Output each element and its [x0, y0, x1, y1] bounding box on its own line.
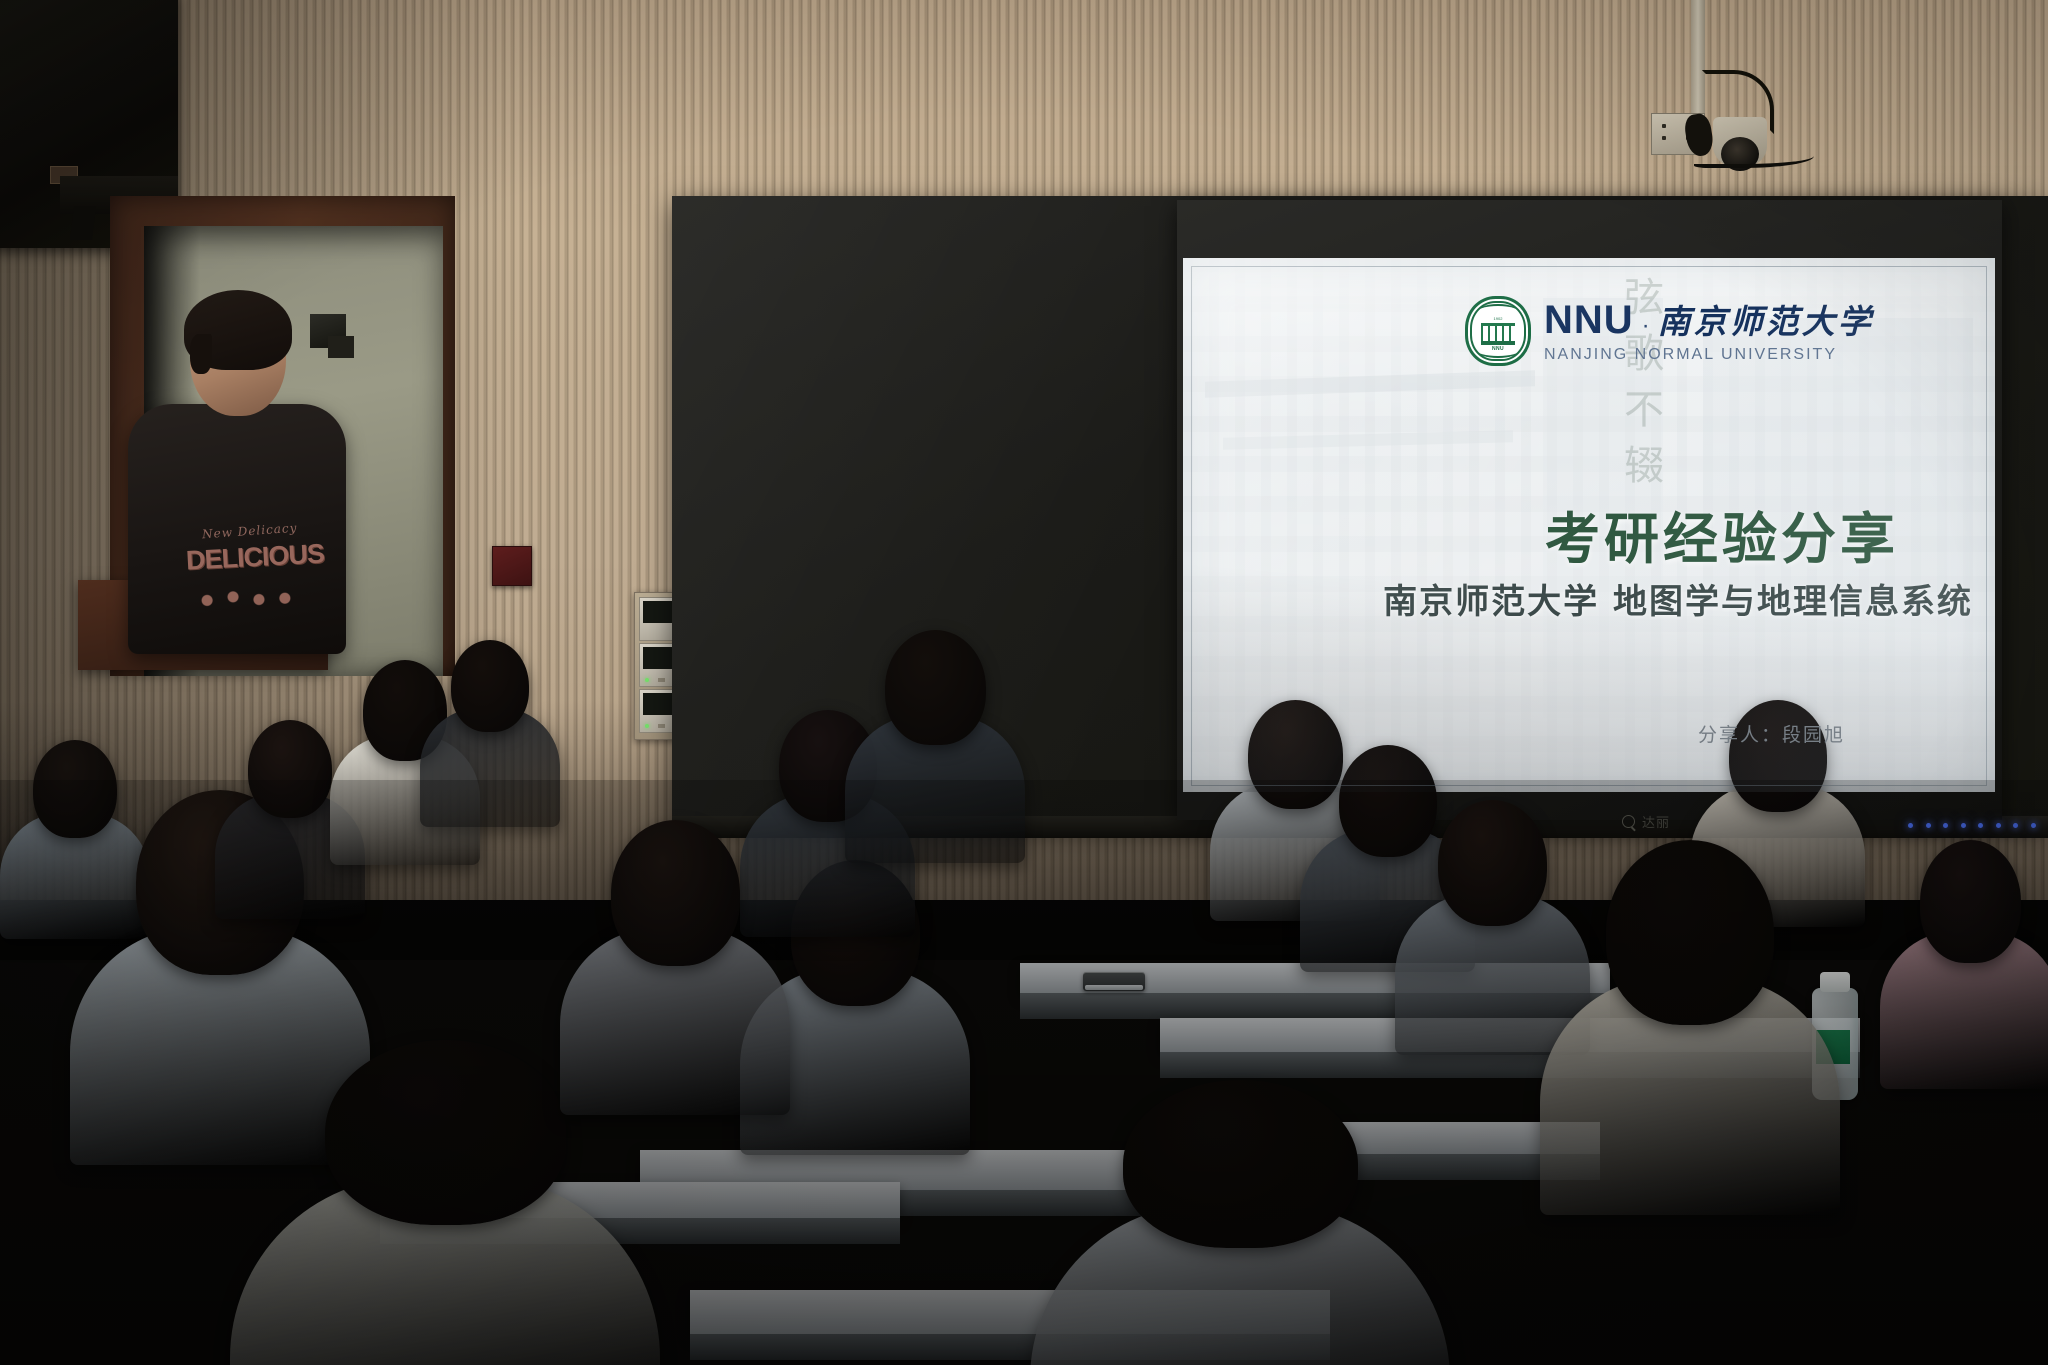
- audience-member: [1030, 1080, 1450, 1365]
- audience-member: [1540, 840, 1840, 1170]
- slide-presenter-line: 分享人：段园旭: [1698, 720, 1845, 747]
- slide-content: 1902 NNU NNU · 南京师范大学 NANJING NORMAL UNI…: [1183, 258, 1995, 792]
- status-led-icon: [645, 678, 649, 682]
- control-button[interactable]: [658, 678, 665, 682]
- audience-head: [1123, 1080, 1358, 1248]
- seal-year: 1902: [1468, 316, 1528, 321]
- display-led-indicators: [1908, 822, 2036, 828]
- nnu-seal-icon: 1902 NNU: [1465, 296, 1531, 366]
- audience-member: [560, 820, 790, 1080]
- audience-head: [1438, 800, 1547, 926]
- audience-head: [885, 630, 986, 745]
- logo-text-block: NNU · 南京师范大学 NANJING NORMAL UNIVERSITY: [1544, 300, 1874, 363]
- speaker-arm: [70, 206, 96, 240]
- smartphone-on-desk[interactable]: [1083, 972, 1145, 991]
- university-logo-lockup: 1902 NNU NNU · 南京师范大学 NANJING NORMAL UNI…: [1465, 296, 1874, 366]
- audience-member: [845, 630, 1025, 835]
- audience-head: [1920, 840, 2021, 963]
- audience-head: [325, 1040, 566, 1225]
- presenter-torso: New Delicacy DELICIOUS: [128, 404, 346, 654]
- tshirt-script-text: New Delicacy: [202, 521, 298, 542]
- logo-separator: ·: [1642, 314, 1650, 338]
- tshirt-graphic: New Delicacy DELICIOUS: [186, 524, 306, 620]
- lecture-hall-photo: 弦歌不辍 1902 NNU NNU · 南京师范大学 NANJING NOR: [0, 0, 2048, 1365]
- status-led-icon: [645, 724, 649, 728]
- logo-abbrev: NNU: [1544, 300, 1634, 340]
- audience-member: [1880, 840, 2048, 1060]
- display-brand-mark: 达丽: [1622, 812, 1670, 831]
- slide-subtitle: 南京师范大学 地图学与地理信息系统: [1383, 574, 1973, 623]
- audience-head: [1606, 840, 1774, 1025]
- audience-member: [420, 640, 560, 805]
- corridor-wall-fixture-lower: [328, 336, 354, 358]
- tshirt-word-text: DELICIOUS: [185, 538, 324, 576]
- display-brand-text: 达丽: [1642, 812, 1670, 831]
- control-button[interactable]: [658, 724, 665, 728]
- audience-head: [248, 720, 332, 818]
- logo-name-cn: 南京师范大学: [1658, 305, 1874, 338]
- audience-head: [451, 640, 529, 732]
- tshirt-figures: [192, 574, 300, 618]
- logo-name-en: NANJING NORMAL UNIVERSITY: [1544, 347, 1874, 363]
- search-icon: [1622, 815, 1635, 828]
- presentation-display[interactable]: 弦歌不辍 1902 NNU NNU · 南京师范大学 NANJING NOR: [1183, 258, 1995, 792]
- audience-head: [611, 820, 740, 966]
- slide-title: 考研经验分享: [1545, 494, 1899, 574]
- fire-alarm-icon[interactable]: [492, 546, 532, 586]
- presenter-hair: [184, 290, 292, 370]
